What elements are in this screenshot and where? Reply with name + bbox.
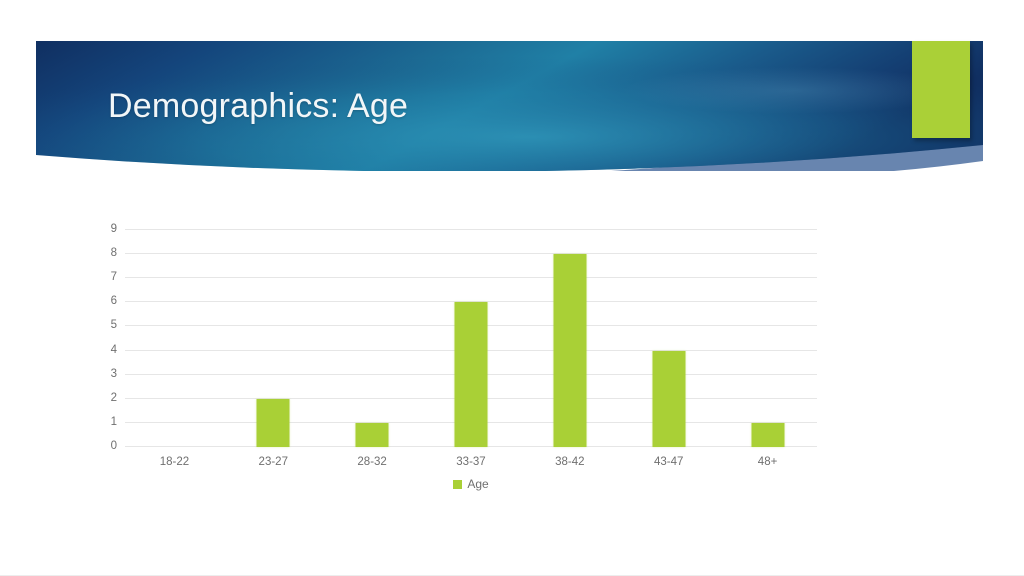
x-axis-tick-label: 48+: [758, 456, 778, 468]
chart-legend: Age: [125, 477, 817, 491]
y-axis-tick-label: 1: [111, 416, 117, 428]
chart-category-slot: 23-27: [224, 230, 323, 447]
bar-23-27[interactable]: [257, 399, 290, 447]
legend-swatch-age: [453, 480, 462, 489]
x-axis-tick-label: 43-47: [654, 456, 683, 468]
chart-category-slot: 28-32: [323, 230, 422, 447]
bar-33-37[interactable]: [454, 302, 487, 447]
y-axis-tick-label: 9: [111, 223, 117, 235]
x-axis-tick-label: 18-22: [160, 456, 189, 468]
y-axis-tick-label: 3: [111, 368, 117, 380]
y-axis-tick-label: 6: [111, 295, 117, 307]
chart-category-slot: 33-37: [422, 230, 521, 447]
x-axis-tick-label: 33-37: [456, 456, 485, 468]
bar-43-47[interactable]: [652, 351, 685, 447]
y-axis-tick-label: 7: [111, 271, 117, 283]
legend-label-age: Age: [467, 477, 488, 491]
chart-category-slot: 48+: [718, 230, 817, 447]
chart-bars: 18-2223-2728-3233-3738-4243-4748+: [125, 230, 817, 447]
chart-category-slot: 38-42: [520, 230, 619, 447]
chart-category-slot: 43-47: [619, 230, 718, 447]
x-axis-tick-label: 23-27: [259, 456, 288, 468]
bar-38-42[interactable]: [553, 254, 586, 447]
chart-plot-area: 0123456789 18-2223-2728-3233-3738-4243-4…: [125, 230, 817, 447]
y-axis-tick-label: 2: [111, 392, 117, 404]
slide-canvas: Demographics: Age 0123456789 18-2223-272…: [0, 0, 1024, 576]
page-title: Demographics: Age: [108, 88, 408, 125]
x-axis-tick-label: 28-32: [357, 456, 386, 468]
chart-category-slot: 18-22: [125, 230, 224, 447]
age-bar-chart: 0123456789 18-2223-2728-3233-3738-4243-4…: [95, 215, 835, 505]
green-accent-block: [912, 41, 970, 138]
bar-28-32[interactable]: [356, 423, 389, 447]
y-axis-tick-label: 5: [111, 319, 117, 331]
bar-48+[interactable]: [751, 423, 784, 447]
y-axis-tick-label: 4: [111, 344, 117, 356]
x-axis-tick-label: 38-42: [555, 456, 584, 468]
y-axis-tick-label: 0: [111, 440, 117, 452]
y-axis-tick-label: 8: [111, 247, 117, 259]
